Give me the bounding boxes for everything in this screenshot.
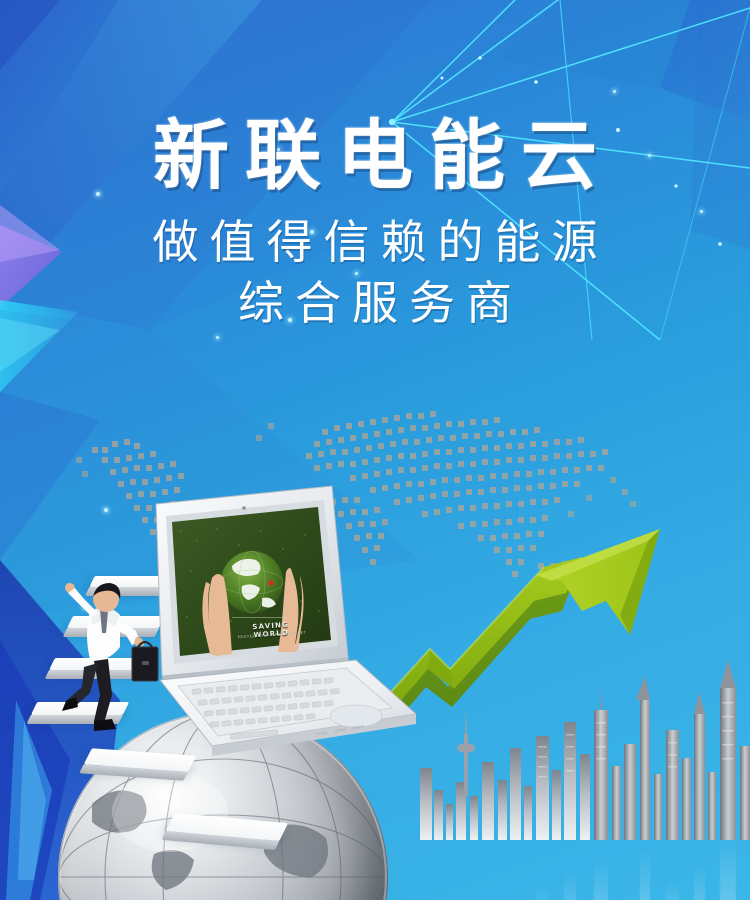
sparkle-dot	[613, 90, 616, 93]
subtitle: 做值得信赖的能源 综合服务商	[0, 212, 750, 333]
title-block: 新联电能云 做值得信赖的能源 综合服务商	[0, 118, 750, 333]
sparkle-dot	[216, 336, 219, 339]
subtitle-line-2: 综合服务商	[0, 273, 750, 334]
laptop-icon	[120, 470, 420, 770]
page-title: 新联电能云	[0, 118, 750, 194]
subtitle-line-1: 做值得信赖的能源	[0, 212, 750, 273]
promo-banner: 新联电能云 做值得信赖的能源 综合服务商	[0, 0, 750, 900]
